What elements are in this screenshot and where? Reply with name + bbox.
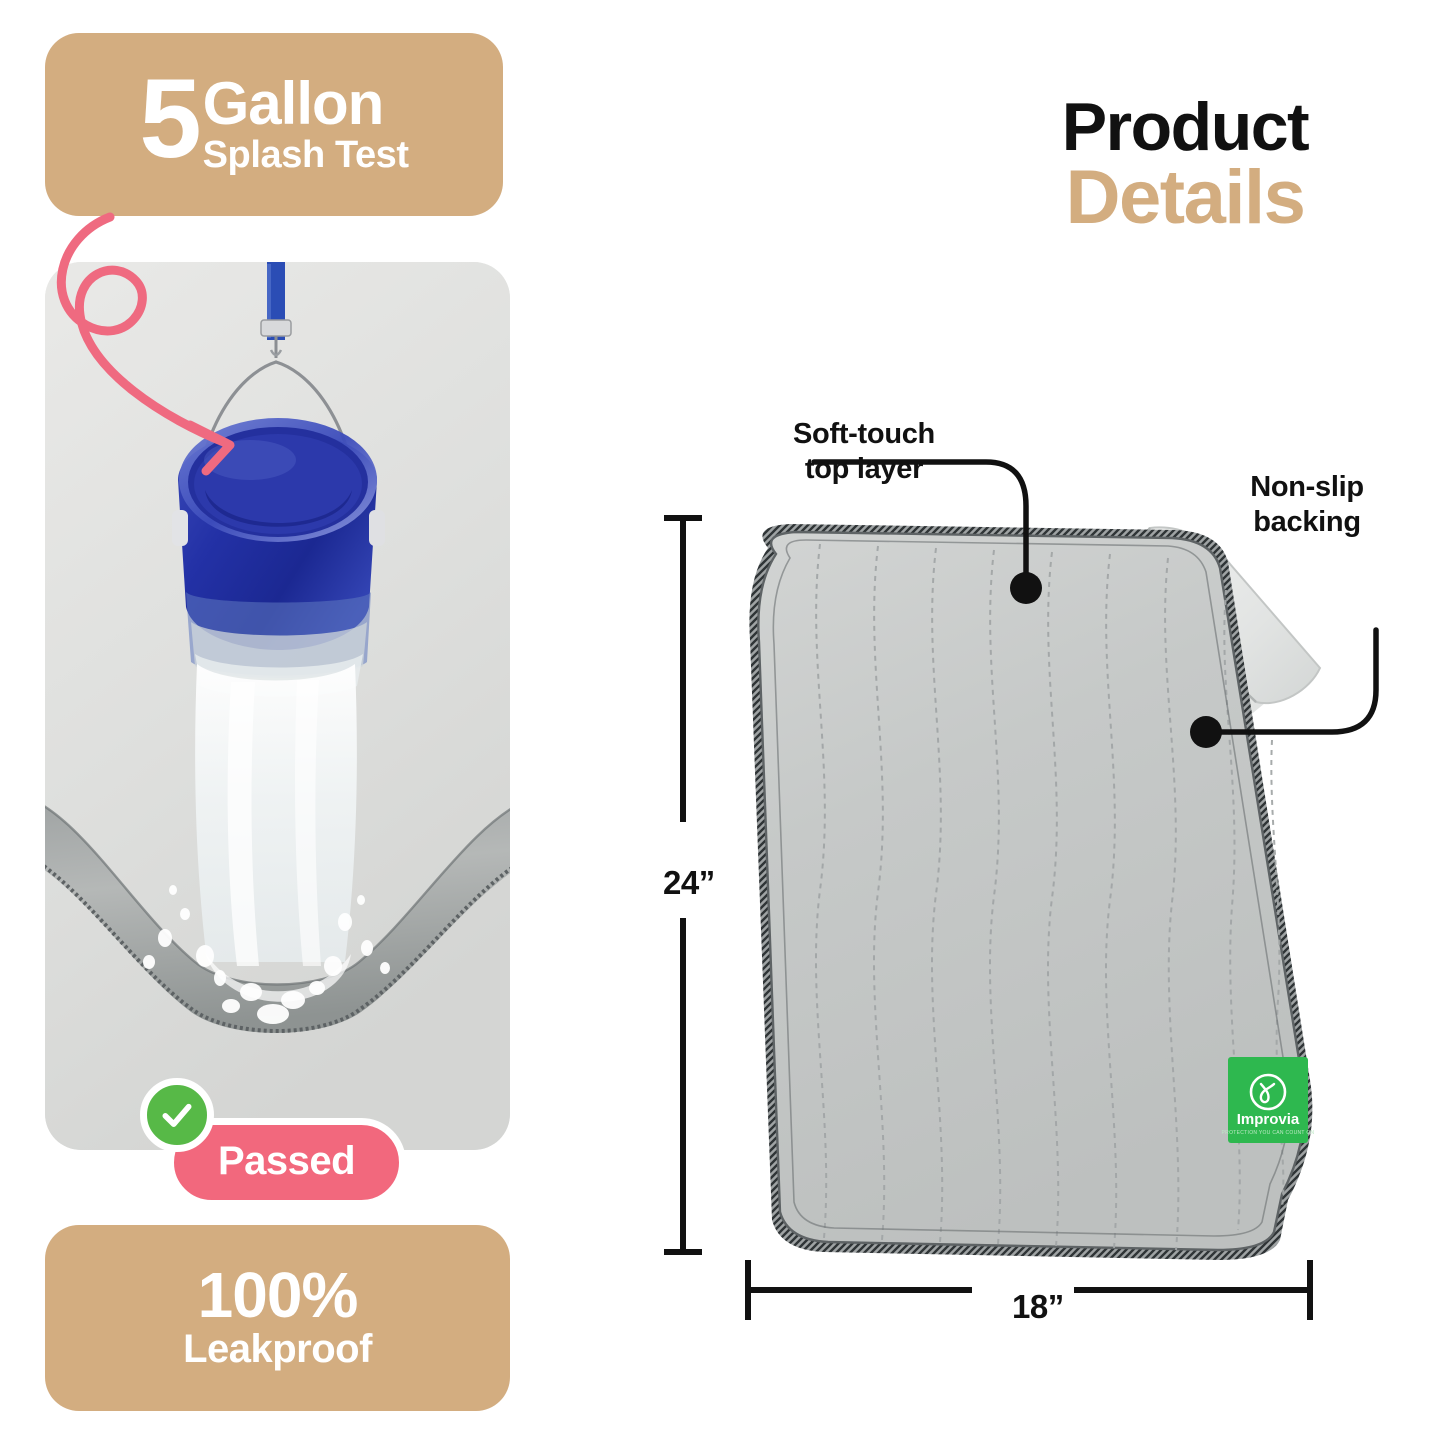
callout-soft-line1: Soft-touch	[793, 418, 935, 450]
svg-text:PROTECTION YOU CAN COUNT ON: PROTECTION YOU CAN COUNT ON	[1222, 1130, 1315, 1136]
callout-dot-soft-touch	[1010, 572, 1042, 604]
infographic-stage: 5 Gallon Splash Test	[0, 0, 1445, 1445]
callout-non-slip-backing: Non-slip backing	[1232, 470, 1382, 541]
pad-top-face	[749, 524, 1312, 1260]
splash-test-badge: 5 Gallon Splash Test	[45, 33, 503, 216]
callout-nonslip-line2: backing	[1253, 506, 1361, 538]
product-diagram: Improvia PROTECTION YOU CAN COUNT ON	[620, 440, 1410, 1370]
page-title: Product Details	[1020, 95, 1350, 236]
splash-test-photo	[45, 262, 510, 1150]
splash-gallon-word: Gallon	[203, 75, 409, 134]
check-icon	[140, 1078, 214, 1152]
svg-text:Improvia: Improvia	[1237, 1111, 1300, 1128]
page-title-line1: Product	[1020, 95, 1350, 160]
callout-soft-touch-top-layer: Soft-touch top layer	[774, 417, 954, 488]
splash-test-photo-illustration	[45, 262, 510, 1150]
splash-badge-content: 5 Gallon Splash Test	[139, 71, 408, 177]
passed-label: Passed	[218, 1139, 355, 1183]
callout-soft-line2: top layer	[805, 453, 923, 485]
leakproof-word: Leakproof	[183, 1325, 372, 1373]
width-dimension-label: 18”	[1002, 1286, 1074, 1328]
callout-dot-non-slip	[1190, 716, 1222, 748]
leakproof-badge: 100% Leakproof	[45, 1225, 510, 1411]
splash-test-word: Splash Test	[203, 134, 409, 178]
height-dimension-label: 24”	[657, 860, 721, 906]
splash-gallon-number: 5	[139, 67, 198, 170]
improvia-logo-tag: Improvia PROTECTION YOU CAN COUNT ON	[1222, 1057, 1315, 1143]
leakproof-percent: 100%	[198, 1263, 358, 1327]
page-title-line2: Details	[1020, 160, 1350, 236]
water-stream	[195, 664, 357, 962]
splash-badge-lines: Gallon Splash Test	[203, 75, 409, 177]
callout-nonslip-line1: Non-slip	[1250, 471, 1364, 503]
